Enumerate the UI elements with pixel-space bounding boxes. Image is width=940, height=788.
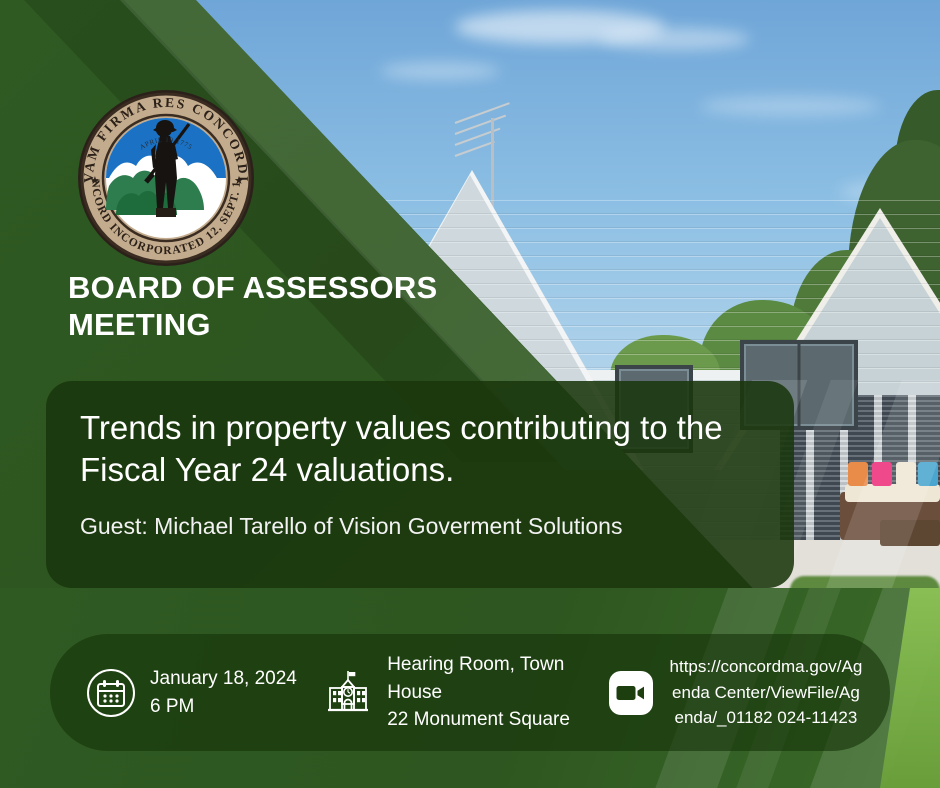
page-title-line-1: BOARD OF ASSESSORS xyxy=(68,270,528,307)
url-line-3: 024-11423 xyxy=(777,708,857,727)
patio-pillow xyxy=(896,462,916,486)
calendar-icon xyxy=(86,668,136,718)
town-hall-icon xyxy=(323,667,373,717)
concord-town-seal-icon: APRIL 19 1775 QVAM FIRMA RES CONCORDIA C… xyxy=(76,88,256,268)
svg-text:★: ★ xyxy=(234,175,244,187)
date-line-2: 6 PM xyxy=(150,693,297,721)
page-title-line-2: MEETING xyxy=(68,307,528,344)
location-text: Hearing Room, Town House 22 Monument Squ… xyxy=(387,651,608,734)
meeting-url[interactable]: https://concordma.gov/Agenda Center/View… xyxy=(668,654,864,731)
patio-pillow xyxy=(872,462,892,486)
location-line-1: Hearing Room, Town House xyxy=(387,654,564,703)
patio-sofa-cushion xyxy=(845,484,940,502)
topic-card: Trends in property values contributing t… xyxy=(46,381,794,588)
detail-location: Hearing Room, Town House 22 Monument Squ… xyxy=(323,651,608,734)
video-camera-icon xyxy=(608,670,654,716)
page-title: BOARD OF ASSESSORS MEETING xyxy=(68,270,528,343)
location-line-2: 22 Monument Square xyxy=(387,706,608,734)
topic-title: Trends in property values contributing t… xyxy=(80,407,760,491)
detail-date: January 18, 2024 6 PM xyxy=(86,665,323,720)
patio-pillow xyxy=(918,462,938,486)
date-text: January 18, 2024 6 PM xyxy=(150,665,297,720)
meeting-announcement-poster: APRIL 19 1775 QVAM FIRMA RES CONCORDIA C… xyxy=(0,0,940,788)
meeting-details-bar: January 18, 2024 6 PM xyxy=(50,634,890,751)
patio-pillow xyxy=(848,462,868,486)
guest-speaker: Guest: Michael Tarello of Vision Goverme… xyxy=(80,513,760,540)
patio-table xyxy=(880,520,940,546)
svg-text:★: ★ xyxy=(90,175,100,187)
detail-meeting-link[interactable]: https://concordma.gov/Agenda Center/View… xyxy=(608,654,864,731)
cloud xyxy=(380,62,500,80)
date-line-1: January 18, 2024 xyxy=(150,668,297,689)
cloud xyxy=(600,28,750,50)
cloud xyxy=(700,96,880,116)
